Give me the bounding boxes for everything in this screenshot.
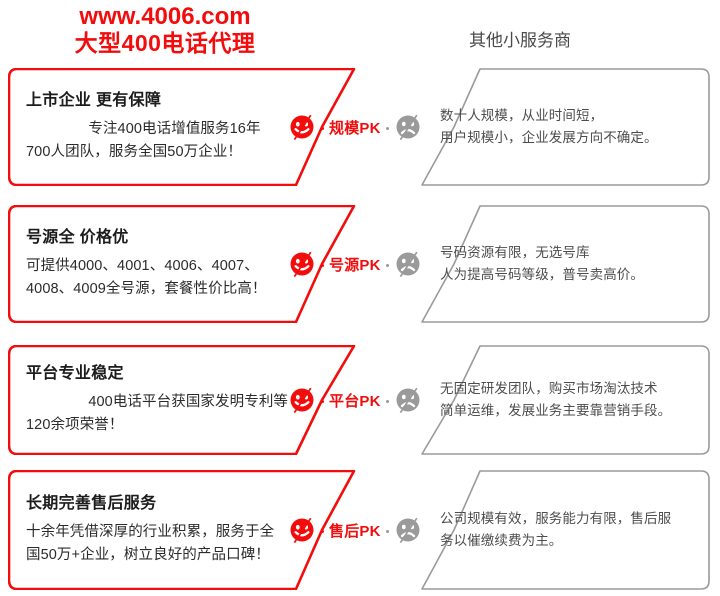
competitor-text-line: 简单运维，发展业务主要靠营销手段。	[440, 400, 696, 422]
advantage-text-line: 国50万+企业，树立良好的产品口碑！	[26, 544, 302, 566]
advantage-text-line: 120余项荣誉！	[26, 414, 302, 436]
competitor-card[interactable]: 公司规模有效，服务能力有限，售后服务以催缴续费为主。	[420, 470, 710, 590]
competitor-card-body: 无固定研发团队，购买市场淘汰技术简单运维，发展业务主要靠营销手段。	[440, 345, 696, 455]
sad-face-icon	[394, 113, 422, 141]
gray-dot-icon	[386, 264, 389, 267]
comparison-row: 号源全 价格优可提供4000、4001、4006、4007、4008、4009全…	[0, 205, 720, 323]
advantage-card[interactable]: 上市企业 更有保障专注400电话增值服务16年700人团队，服务全国50万企业！	[8, 68, 360, 186]
advantage-title: 长期完善售后服务	[26, 494, 302, 514]
advantage-title: 上市企业 更有保障	[26, 91, 302, 111]
advantage-card-body: 号源全 价格优可提供4000、4001、4006、4007、4008、4009全…	[26, 205, 302, 323]
site-subtitle: 大型400电话代理	[40, 31, 290, 56]
comparison-infographic: www.4006.com 大型400电话代理 其他小服务商 上市企业 更有保障专…	[0, 0, 720, 596]
competitor-text-line: 用户规模小，企业发展方向不确定。	[440, 127, 696, 149]
competitor-card[interactable]: 号码资源有限，无选号库人为提高号码等级，普号卖高价。	[420, 205, 710, 323]
advantage-text-line: 4008、4009全号源，套餐性价比高！	[26, 278, 302, 300]
competitor-card[interactable]: 无固定研发团队，购买市场淘汰技术简单运维，发展业务主要靠营销手段。	[420, 345, 710, 455]
advantage-title: 号源全 价格优	[26, 228, 302, 248]
sad-face-icon	[394, 386, 422, 414]
competitor-text-line: 号码资源有限，无选号库	[440, 242, 696, 264]
gray-dot-icon	[386, 400, 389, 403]
advantage-card[interactable]: 号源全 价格优可提供4000、4001、4006、4007、4008、4009全…	[8, 205, 360, 323]
advantage-text: 专注400电话增值服务16年700人团队，服务全国50万企业！	[26, 118, 302, 162]
advantage-text: 可提供4000、4001、4006、4007、4008、4009全号源，套餐性价…	[26, 255, 302, 299]
advantage-text-line: 400电话平台获国家发明专利等	[26, 391, 302, 413]
competitor-text-line: 无固定研发团队，购买市场淘汰技术	[440, 378, 696, 400]
competitor-text-line: 数十人规模，从业时间短，	[440, 105, 696, 127]
advantage-text: 400电话平台获国家发明专利等120余项荣誉！	[26, 391, 302, 435]
left-column-header: www.4006.com 大型400电话代理	[40, 4, 290, 56]
competitor-text-line: 公司规模有效，服务能力有限，售后服	[440, 508, 696, 530]
advantage-text-line: 700人团队，服务全国50万企业！	[26, 141, 302, 163]
gray-dot-icon	[386, 127, 389, 130]
gray-dot-icon	[386, 530, 389, 533]
advantage-card[interactable]: 平台专业稳定400电话平台获国家发明专利等120余项荣誉！	[8, 345, 360, 455]
competitor-text-line: 务以催缴续费为主。	[440, 530, 696, 552]
competitor-text-line: 人为提高号码等级，普号卖高价。	[440, 264, 696, 286]
competitor-card[interactable]: 数十人规模，从业时间短，用户规模小，企业发展方向不确定。	[420, 68, 710, 186]
advantage-title: 平台专业稳定	[26, 364, 302, 384]
competitor-card-body: 数十人规模，从业时间短，用户规模小，企业发展方向不确定。	[440, 68, 696, 186]
advantage-text-line: 专注400电话增值服务16年	[26, 118, 302, 140]
advantage-text-line: 可提供4000、4001、4006、4007、	[26, 255, 302, 277]
advantage-card-body: 长期完善售后服务十余年凭借深厚的行业积累，服务于全国50万+企业，树立良好的产品…	[26, 470, 302, 590]
right-column-header: 其他小服务商	[420, 26, 620, 51]
comparison-row: 平台专业稳定400电话平台获国家发明专利等120余项荣誉！ 平台PK 无固定研发…	[0, 345, 720, 455]
sad-face-icon	[394, 516, 422, 544]
advantage-text: 十余年凭借深厚的行业积累，服务于全国50万+企业，树立良好的产品口碑！	[26, 521, 302, 565]
comparison-row: 上市企业 更有保障专注400电话增值服务16年700人团队，服务全国50万企业！…	[0, 68, 720, 186]
advantage-card[interactable]: 长期完善售后服务十余年凭借深厚的行业积累，服务于全国50万+企业，树立良好的产品…	[8, 470, 360, 590]
competitor-card-body: 号码资源有限，无选号库人为提高号码等级，普号卖高价。	[440, 205, 696, 323]
site-url-title: www.4006.com	[40, 4, 290, 30]
comparison-row: 长期完善售后服务十余年凭借深厚的行业积累，服务于全国50万+企业，树立良好的产品…	[0, 470, 720, 590]
advantage-card-body: 平台专业稳定400电话平台获国家发明专利等120余项荣誉！	[26, 345, 302, 455]
advantage-card-body: 上市企业 更有保障专注400电话增值服务16年700人团队，服务全国50万企业！	[26, 68, 302, 186]
sad-face-icon	[394, 250, 422, 278]
competitor-card-body: 公司规模有效，服务能力有限，售后服务以催缴续费为主。	[440, 470, 696, 590]
advantage-text-line: 十余年凭借深厚的行业积累，服务于全	[26, 521, 302, 543]
